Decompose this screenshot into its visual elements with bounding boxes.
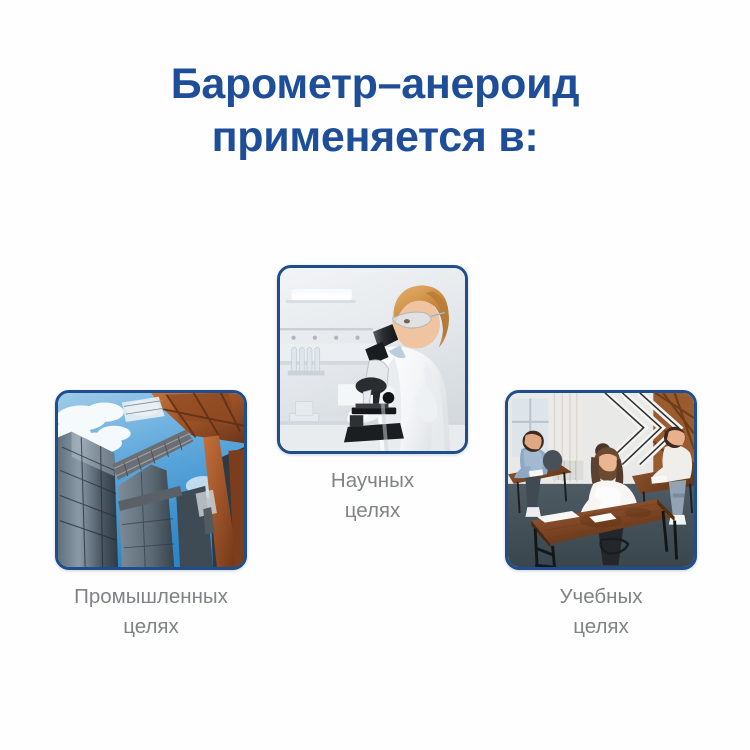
card-scientific-caption: Научных целях: [277, 466, 468, 526]
industrial-silos-photo: [55, 390, 247, 570]
card-scientific[interactable]: Научных целях: [277, 265, 468, 526]
scientist-microscope-photo: [277, 265, 468, 454]
card-industrial[interactable]: Промышленных целях: [55, 390, 247, 642]
slide-canvas: Барометр–анероид применяется в:: [0, 0, 750, 750]
students-classroom-photo: [505, 390, 697, 570]
page-title: Барометр–анероид применяется в:: [0, 58, 750, 164]
card-industrial-caption: Промышленных целях: [55, 582, 247, 642]
card-educational[interactable]: Учебных целях: [505, 390, 697, 642]
card-educational-caption: Учебных целях: [505, 582, 697, 642]
